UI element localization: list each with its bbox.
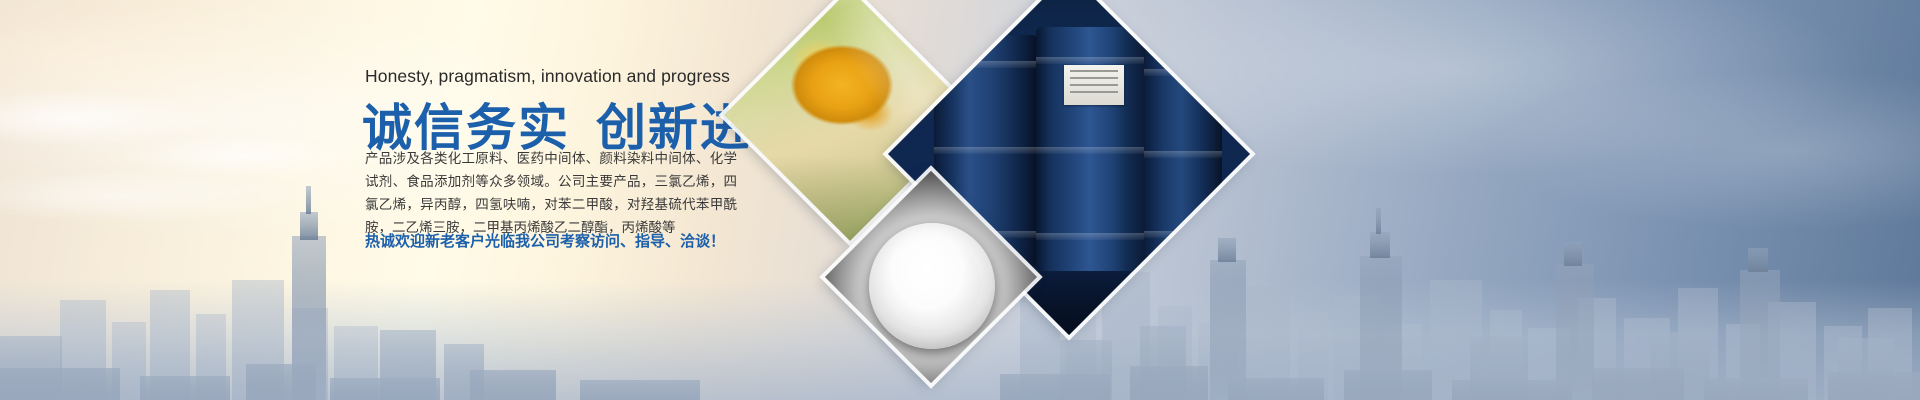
drum-label — [1064, 65, 1124, 105]
drum-ring — [1036, 57, 1148, 64]
drum-label-line — [1070, 84, 1118, 86]
hero-banner: Honesty, pragmatism, innovation and prog… — [0, 0, 1920, 400]
company-description: 产品涉及各类化工原料、医药中间体、颜料染料中间体、化学试剂、食品添加剂等众多领域… — [365, 147, 737, 239]
drum-center — [1036, 27, 1148, 271]
drum-ring — [934, 147, 1038, 154]
drum-ring — [1036, 233, 1148, 240]
banner-text-block: Honesty, pragmatism, innovation and prog… — [0, 0, 760, 400]
drum-label-line — [1070, 70, 1118, 72]
drum-ring — [1036, 147, 1148, 154]
call-to-action-text: 热诚欢迎新老客户光临我公司考察访问、指导、洽谈！ — [365, 230, 725, 251]
drum-label-line — [1070, 91, 1118, 93]
drum-ring — [1144, 151, 1222, 158]
drum-label-line — [1070, 77, 1118, 79]
white-powder — [883, 237, 981, 329]
english-tagline: Honesty, pragmatism, innovation and prog… — [365, 66, 730, 87]
